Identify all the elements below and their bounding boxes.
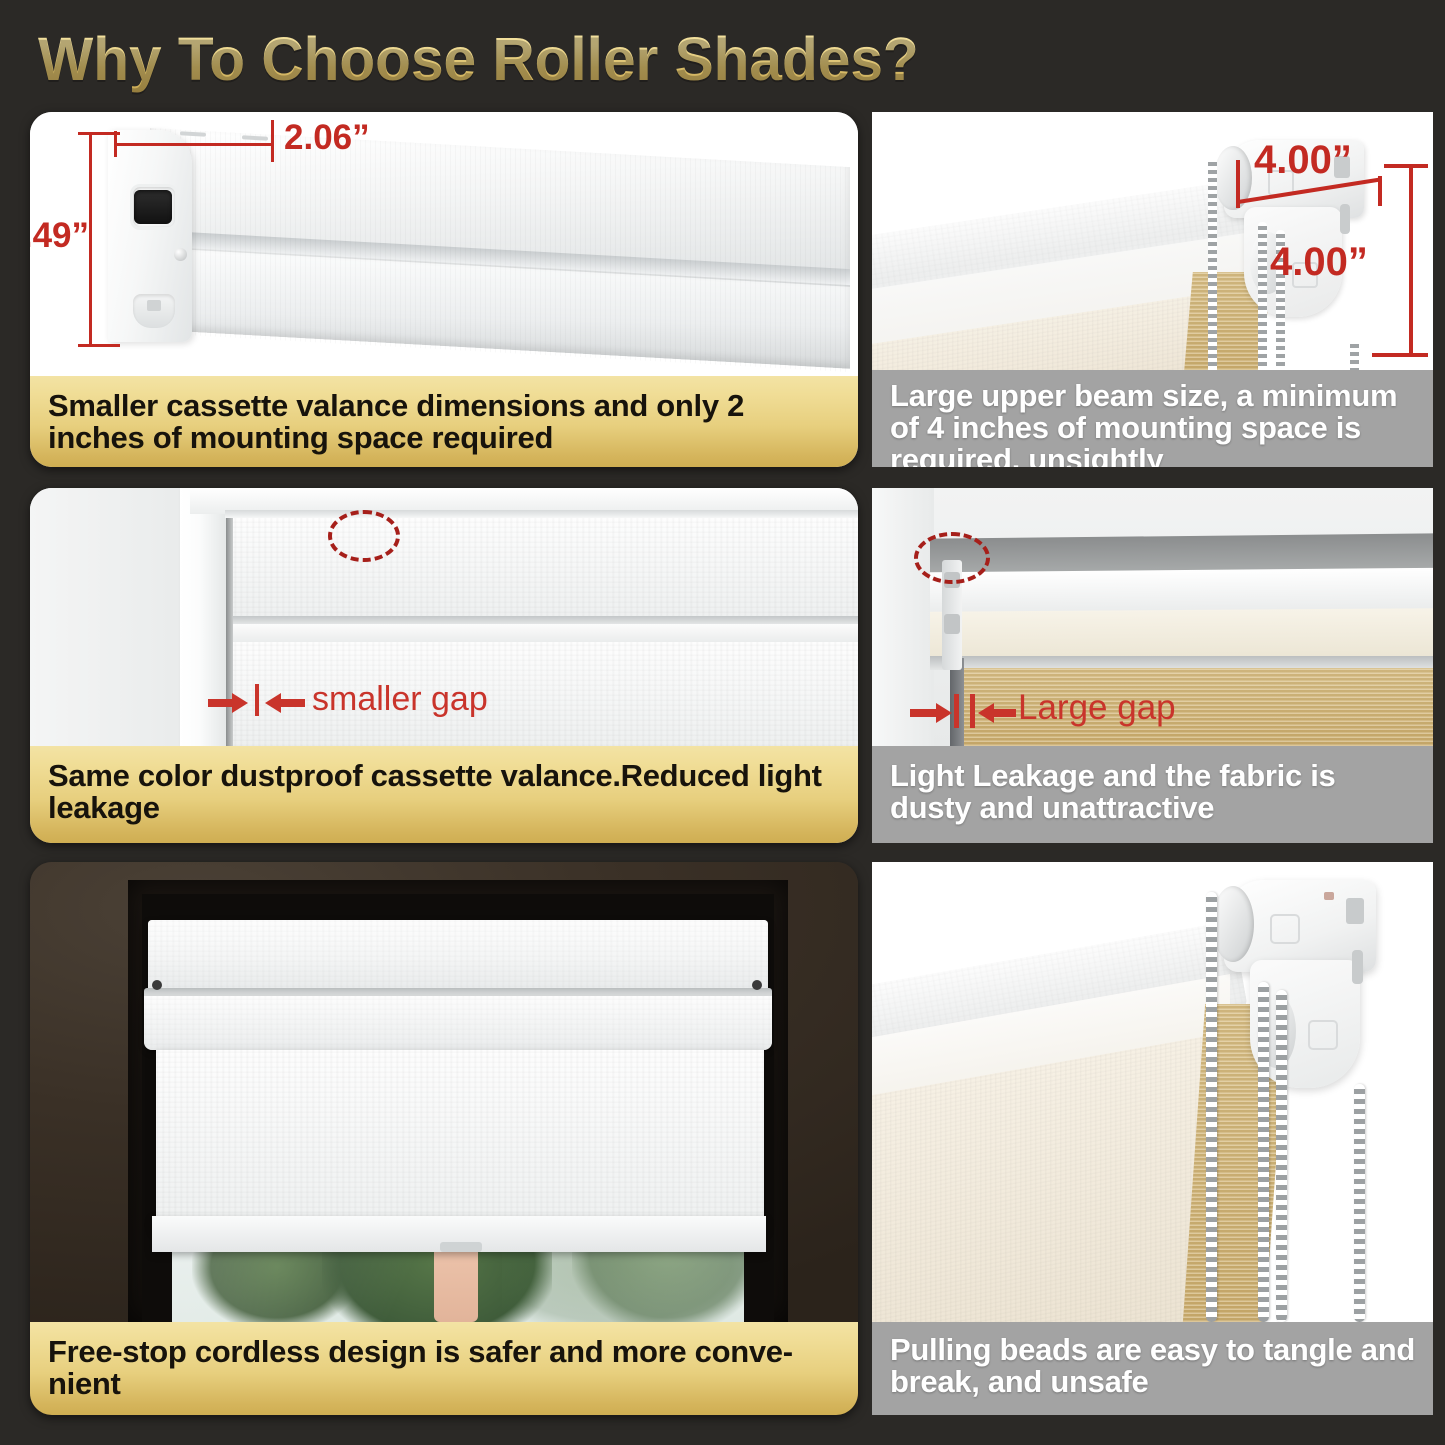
panel-large-upper-beam[interactable]: 4.00” 4.00” Large upper beam size, a min… [872, 112, 1433, 467]
gap-arrow-right [263, 692, 305, 714]
caption-text: Large upper beam size, a minimum of 4 in… [890, 380, 1415, 467]
height-dimension-line [89, 132, 92, 347]
panel-dustproof-cassette[interactable]: smaller gap Same color dustproof cassett… [30, 488, 858, 843]
bead-chain [1276, 990, 1287, 1322]
width-dimension-line [114, 143, 274, 146]
width-dimension-tick-right [271, 120, 274, 162]
caption-text: Same color dustproof cassette valance.Re… [48, 760, 840, 824]
dustproof-cassette-photo: smaller gap [30, 488, 858, 746]
beam-height-tick-bottom [1372, 353, 1428, 357]
shade-fabric [156, 1050, 764, 1228]
panel-cordless-design[interactable]: Free-stop cordless design is safer and m… [30, 862, 858, 1415]
caption-light-leakage: Light Leakage and the fabric is dusty an… [872, 746, 1433, 843]
beam-height-tick-top [1384, 164, 1428, 168]
upper-beam-photo: 4.00” 4.00” [872, 112, 1433, 377]
caption-text: Pulling beads are easy to tangle and bre… [890, 1334, 1415, 1398]
beam-height-dimension-label: 4.00” [1270, 240, 1368, 285]
highlight-ellipse [914, 532, 990, 584]
light-leakage-photo: Large gap [872, 488, 1433, 746]
caption-large-upper-beam: Large upper beam size, a minimum of 4 in… [872, 370, 1433, 467]
beam-height-dimension-line [1409, 164, 1413, 356]
large-gap-label: Large gap [1018, 688, 1176, 728]
width-dimension-label: 2.06” [284, 118, 370, 158]
highlight-ellipse [328, 510, 400, 562]
gap-arrow-left [208, 692, 250, 714]
caption-cordless-design: Free-stop cordless design is safer and m… [30, 1322, 858, 1415]
caption-dustproof-cassette: Same color dustproof cassette valance.Re… [30, 746, 858, 843]
gap-arrow-right [976, 702, 1016, 724]
cordless-room-photo [30, 862, 858, 1322]
bead-chain [1258, 222, 1267, 377]
bead-chain [1354, 1084, 1365, 1322]
panel-pulling-beads[interactable]: Pulling beads are easy to tangle and bre… [872, 862, 1433, 1415]
caption-text: Free-stop cordless design is safer and m… [48, 1336, 840, 1400]
caption-cassette-dimensions: Smaller cassette valance dimensions and … [30, 376, 858, 467]
beam-width-dimension-label: 4.00” [1254, 138, 1352, 183]
gap-marker-line [970, 694, 975, 728]
panel-cassette-dimensions[interactable]: 2.06” 5.49” Smaller cassette valance dim… [30, 112, 858, 467]
height-dimension-label: 5.49” [30, 216, 89, 256]
height-dimension-tick-bottom [78, 344, 120, 347]
bead-chain [1206, 892, 1217, 1322]
gap-arrow-left [910, 702, 954, 724]
panel-light-leakage[interactable]: Large gap Light Leakage and the fabric i… [872, 488, 1433, 843]
caption-pulling-beads: Pulling beads are easy to tangle and bre… [872, 1322, 1433, 1415]
comparison-grid: 2.06” 5.49” Smaller cassette valance dim… [0, 0, 1445, 1445]
gap-marker-line [255, 684, 259, 716]
valance-top [228, 518, 858, 618]
pulling-beads-photo [872, 862, 1433, 1322]
gap-marker-line [954, 694, 959, 728]
bead-chain [1258, 982, 1269, 1322]
beam-width-tick-left [1236, 160, 1240, 208]
beam-width-tick-right [1378, 176, 1382, 206]
caption-text: Light Leakage and the fabric is dusty an… [890, 760, 1415, 824]
height-dimension-tick-top [78, 132, 120, 135]
caption-text: Smaller cassette valance dimensions and … [48, 390, 840, 454]
bead-chain [1208, 158, 1217, 377]
cassette-photo: 2.06” 5.49” [30, 112, 858, 380]
smaller-gap-label: smaller gap [312, 680, 488, 719]
